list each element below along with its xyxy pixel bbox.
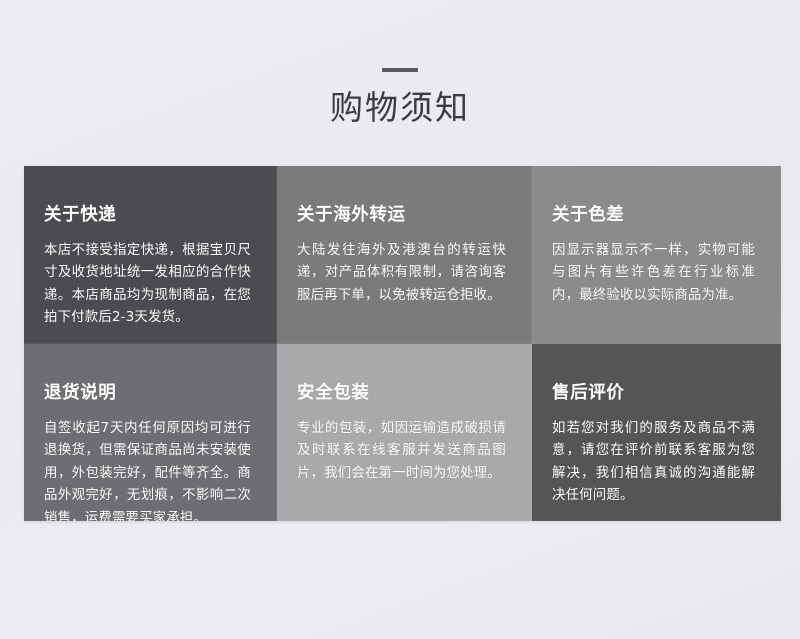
notice-card-title: 关于色差 — [552, 204, 755, 226]
notice-card-body: 自签收起7天内任何原因均可进行退换货，但需保证商品尚未安装使用，外包装完好，配件… — [44, 418, 251, 521]
notice-card-title: 售后评价 — [552, 382, 755, 404]
page-title: 购物须知 — [0, 88, 800, 128]
shopping-notice-page: 购物须知 关于快递 本店不接受指定快递，根据宝贝尺寸及收货地址统一发相应的合作快… — [0, 0, 800, 639]
notice-card-after-sales-review: 售后评价 如若您对我们的服务及商品不满意，请您在评价前联系客服为您解决，我们相信… — [532, 344, 781, 521]
notice-card-body: 如若您对我们的服务及商品不满意，请您在评价前联系客服为您解决，我们相信真诚的沟通… — [552, 418, 755, 508]
notice-card-title: 退货说明 — [44, 382, 251, 404]
notice-card-safe-packaging: 安全包装 专业的包装，如因运输造成破损请及时联系在线客服并发送商品图片，我们会在… — [277, 344, 532, 521]
notice-card-overseas-forwarding: 关于海外转运 大陆发往海外及港澳台的转运快递，对产品体积有限制，请咨询客服后再下… — [277, 166, 532, 344]
notice-card-content: 售后评价 如若您对我们的服务及商品不满意，请您在评价前联系客服为您解决，我们相信… — [552, 382, 755, 508]
notice-card-content: 退货说明 自签收起7天内任何原因均可进行退换货，但需保证商品尚未安装使用，外包装… — [44, 382, 251, 521]
notice-card-title: 关于快递 — [44, 204, 251, 226]
notice-card-body: 大陆发往海外及港澳台的转运快递，对产品体积有限制，请咨询客服后再下单，以免被转运… — [297, 240, 506, 307]
notice-card-shipping: 关于快递 本店不接受指定快递，根据宝贝尺寸及收货地址统一发相应的合作快递。本店商… — [24, 166, 277, 344]
notice-card-content: 安全包装 专业的包装，如因运输造成破损请及时联系在线客服并发送商品图片，我们会在… — [297, 382, 506, 485]
notice-card-title: 安全包装 — [297, 382, 506, 404]
notice-card-body: 本店不接受指定快递，根据宝贝尺寸及收货地址统一发相应的合作快递。本店商品均为现制… — [44, 240, 251, 330]
notice-card-body: 因显示器显示不一样，实物可能与图片有些许色差在行业标准内，最终验收以实际商品为准… — [552, 240, 755, 307]
notice-card-content: 关于海外转运 大陆发往海外及港澳台的转运快递，对产品体积有限制，请咨询客服后再下… — [297, 204, 506, 307]
page-header: 购物须知 — [0, 0, 800, 128]
notice-card-title: 关于海外转运 — [297, 204, 506, 226]
notice-card-body: 专业的包装，如因运输造成破损请及时联系在线客服并发送商品图片，我们会在第一时间为… — [297, 418, 506, 485]
notice-card-returns: 退货说明 自签收起7天内任何原因均可进行退换货，但需保证商品尚未安装使用，外包装… — [24, 344, 277, 521]
notice-grid: 关于快递 本店不接受指定快递，根据宝贝尺寸及收货地址统一发相应的合作快递。本店商… — [24, 166, 781, 521]
notice-card-content: 关于快递 本店不接受指定快递，根据宝贝尺寸及收货地址统一发相应的合作快递。本店商… — [44, 204, 251, 330]
notice-card-color-difference: 关于色差 因显示器显示不一样，实物可能与图片有些许色差在行业标准内，最终验收以实… — [532, 166, 781, 344]
title-accent-bar — [382, 68, 418, 72]
notice-card-content: 关于色差 因显示器显示不一样，实物可能与图片有些许色差在行业标准内，最终验收以实… — [552, 204, 755, 307]
